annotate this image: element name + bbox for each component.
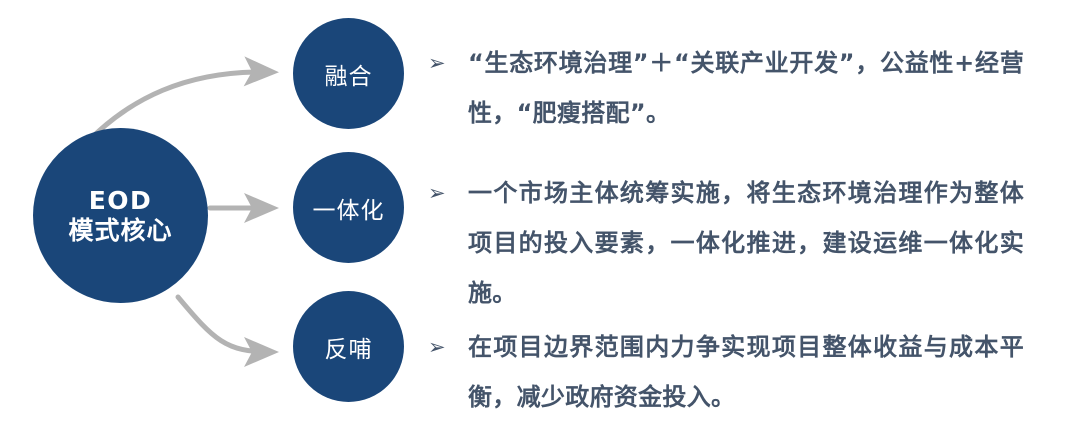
- core-label-cn: 模式核心: [68, 216, 172, 246]
- node-circle-fusion: 融合: [293, 18, 404, 129]
- core-circle: EOD 模式核心: [33, 128, 208, 303]
- bullet-arrow-icon: ➢: [428, 322, 468, 372]
- node-label-fusion: 融合: [325, 57, 373, 91]
- node-circle-integration: 一体化: [293, 152, 404, 263]
- bullet-item-fusion: ➢ “生态环境治理”＋“关联产业开发”，公益性+经营性，“肥瘦搭配”。: [428, 38, 1024, 138]
- bullet-text-feedback: 在项目边界范围内力争实现项目整体收益与成本平衡，减少政府资金投入。: [468, 322, 1024, 422]
- node-circle-feedback: 反哺: [293, 291, 404, 402]
- bullet-item-integration: ➢ 一个市场主体统筹实施，将生态环境治理作为整体项目的投入要素，一体化推进，建设…: [428, 168, 1024, 318]
- bullet-text-integration: 一个市场主体统筹实施，将生态环境治理作为整体项目的投入要素，一体化推进，建设运维…: [468, 168, 1024, 318]
- bullet-text-fusion: “生态环境治理”＋“关联产业开发”，公益性+经营性，“肥瘦搭配”。: [468, 38, 1024, 138]
- core-label-en: EOD: [89, 186, 153, 216]
- node-label-feedback: 反哺: [325, 330, 373, 364]
- node-label-integration: 一体化: [313, 191, 385, 225]
- connector-core-to-feedback-icon: [178, 297, 270, 352]
- bullet-arrow-icon: ➢: [428, 38, 468, 88]
- bullet-item-feedback: ➢ 在项目边界范围内力争实现项目整体收益与成本平衡，减少政府资金投入。: [428, 322, 1024, 422]
- bullet-arrow-icon: ➢: [428, 168, 468, 218]
- eod-concept-diagram: EOD 模式核心 融合 一体化 反哺 ➢ “生态环境治理”＋“关联产业开发”，公…: [0, 0, 1080, 436]
